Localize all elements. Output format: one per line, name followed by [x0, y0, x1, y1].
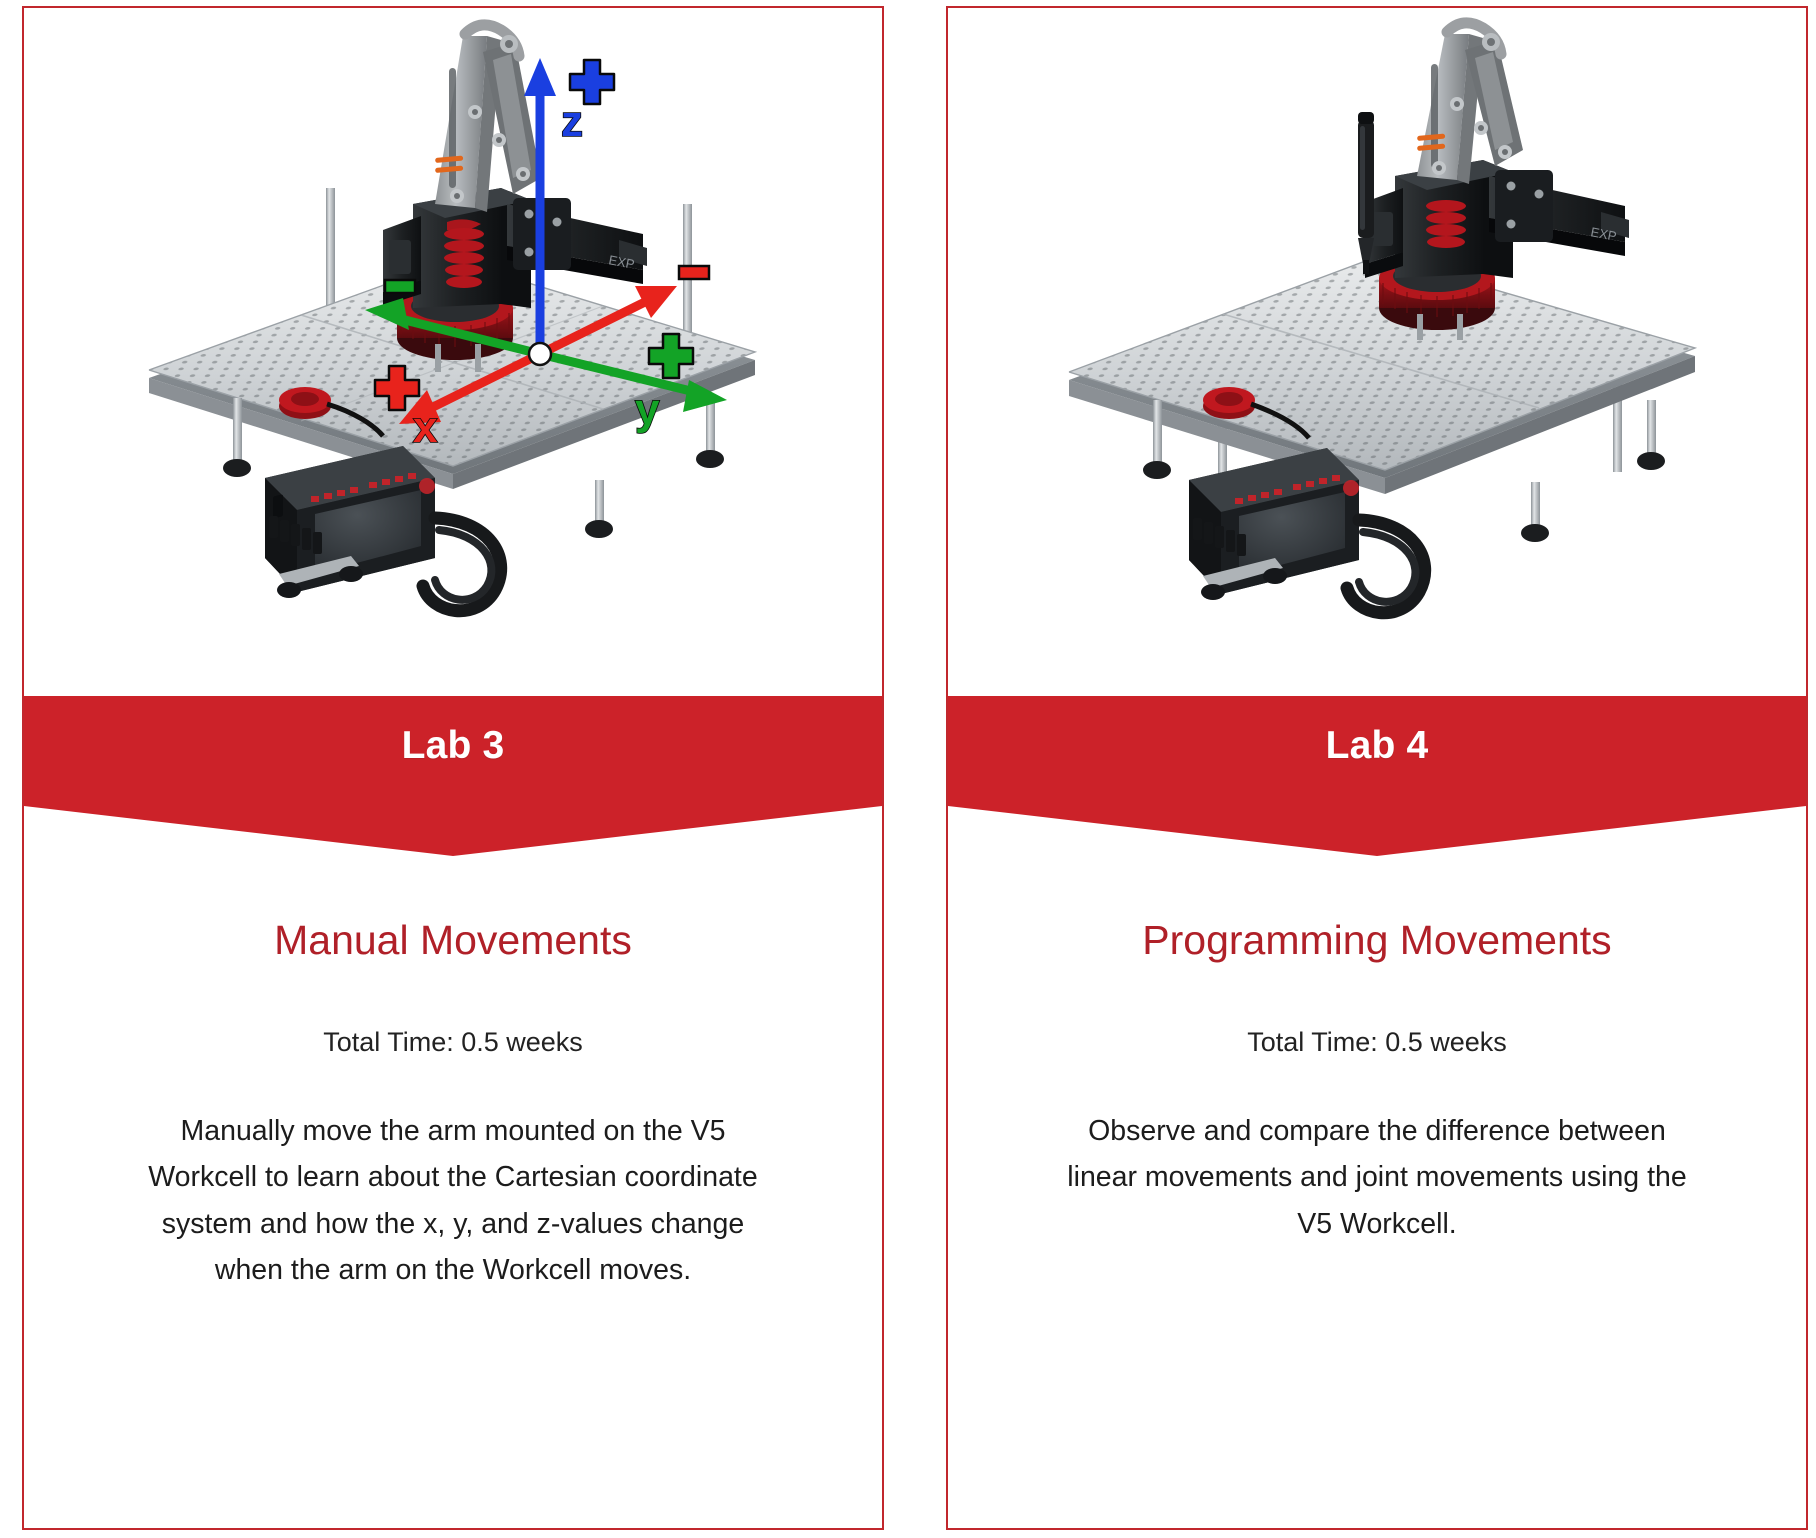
lab-3-title: Manual Movements — [68, 918, 838, 963]
lab-3-image: EXP — [24, 8, 882, 698]
workcell-illustration-with-marker: EXP — [948, 8, 1806, 698]
axis-y-minus-sign — [385, 280, 415, 293]
axis-y-label: y — [635, 385, 660, 434]
lab-4-banner-label: Lab 4 — [948, 724, 1806, 768]
lab-4-description: Observe and compare the difference betwe… — [1057, 1108, 1697, 1246]
axes-origin-marker — [529, 343, 551, 365]
axis-x-label: x — [413, 403, 438, 452]
lab-3-body: Manual Movements Total Time: 0.5 weeks M… — [24, 856, 882, 1528]
marker-pen — [1358, 112, 1374, 274]
lab-4-image: EXP — [948, 8, 1806, 698]
lab-card-lab-3[interactable]: EXP — [22, 6, 884, 1530]
lab-cards-page: EXP — [0, 0, 1816, 1538]
axis-x-minus-sign — [679, 266, 709, 279]
lab-3-description: Manually move the arm mounted on the V5 … — [133, 1108, 773, 1293]
banner-chevron-shape — [24, 696, 882, 856]
lab-4-title: Programming Movements — [992, 918, 1762, 963]
robot-linkage-arm — [435, 25, 541, 212]
lab-3-banner: Lab 3 — [24, 696, 882, 856]
workcell-illustration-with-axes: EXP — [24, 8, 882, 698]
lab-card-lab-4[interactable]: EXP — [946, 6, 1808, 1530]
lab-cards-row: EXP — [0, 0, 1816, 1538]
banner-chevron-shape — [948, 696, 1806, 856]
lab-3-total-time: Total Time: 0.5 weeks — [68, 1025, 838, 1060]
lab-3-banner-label: Lab 3 — [24, 724, 882, 768]
robot-linkage-arm — [1417, 23, 1523, 184]
axis-z-label: z — [561, 97, 583, 146]
lab-4-total-time: Total Time: 0.5 weeks — [992, 1025, 1762, 1060]
lab-4-banner: Lab 4 — [948, 696, 1806, 856]
lab-4-body: Programming Movements Total Time: 0.5 we… — [948, 856, 1806, 1528]
